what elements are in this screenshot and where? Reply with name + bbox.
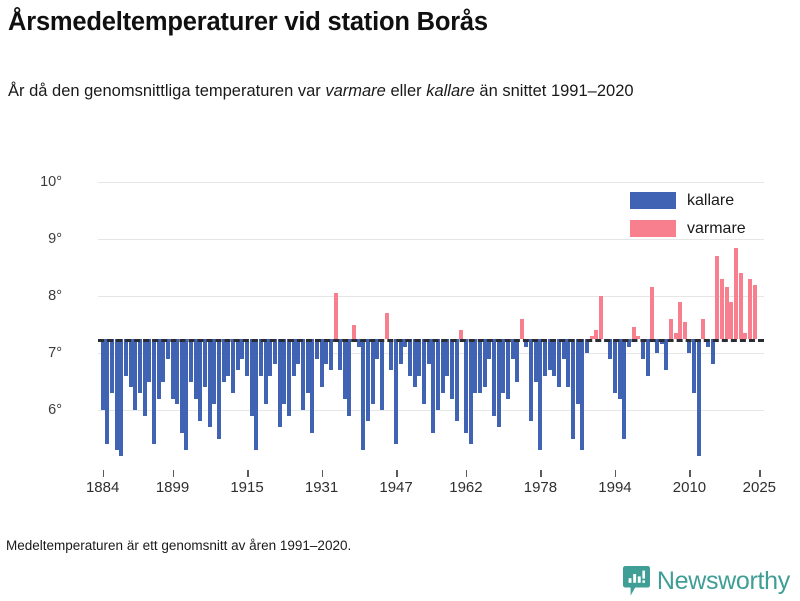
bar-1990[interactable] [594, 330, 598, 339]
bar-2019[interactable] [729, 302, 733, 339]
bar-1926[interactable] [296, 339, 300, 365]
bar-1892[interactable] [138, 339, 142, 393]
chart-page: Årsmedeltemperaturer vid station Borås Å… [0, 0, 800, 600]
brand-name: Newsworthy [657, 567, 790, 596]
bar-1893[interactable] [143, 339, 147, 416]
bar-1919[interactable] [264, 339, 268, 405]
bar-1994[interactable] [613, 339, 617, 393]
gridline-8° [98, 296, 764, 297]
bar-1944[interactable] [380, 339, 384, 410]
bar-1908[interactable] [212, 339, 216, 405]
bar-1884[interactable] [101, 339, 105, 410]
bar-1922[interactable] [278, 339, 282, 427]
bar-2006[interactable] [669, 319, 673, 339]
x-axis-tick-label: 1962 [449, 479, 482, 496]
bar-1903[interactable] [189, 339, 193, 382]
average-baseline [98, 339, 764, 342]
bar-1942[interactable] [371, 339, 375, 405]
bar-1923[interactable] [282, 339, 286, 405]
x-axis-tick-label: 1931 [305, 479, 338, 496]
x-axis-tick [759, 470, 761, 477]
bar-1991[interactable] [599, 296, 603, 339]
bar-1995[interactable] [618, 339, 622, 399]
bar-1953[interactable] [422, 339, 426, 405]
bar-1973[interactable] [515, 339, 519, 382]
bar-1889[interactable] [124, 339, 128, 376]
bar-1917[interactable] [254, 339, 258, 450]
bar-1886[interactable] [110, 339, 114, 393]
bar-1965[interactable] [478, 339, 482, 393]
bar-1896[interactable] [157, 339, 161, 399]
bar-2020[interactable] [734, 248, 738, 339]
bar-chart-bubble-icon [623, 566, 650, 596]
bar-1963[interactable] [469, 339, 473, 444]
x-axis-tick-label: 2010 [673, 479, 706, 496]
bar-1921[interactable] [273, 339, 277, 365]
bar-1981[interactable] [552, 339, 556, 376]
bar-1950[interactable] [408, 339, 412, 376]
bar-1996[interactable] [622, 339, 626, 439]
bar-1987[interactable] [580, 339, 584, 450]
bar-1901[interactable] [180, 339, 184, 433]
chart-plot-area: 6°7°8°9°10°18841899191519311947196219781… [0, 0, 800, 600]
bar-1958[interactable] [445, 339, 449, 376]
bar-2011[interactable] [692, 339, 696, 393]
bar-1933[interactable] [329, 339, 333, 370]
bar-1954[interactable] [427, 339, 431, 365]
bar-1910[interactable] [222, 339, 226, 382]
x-axis-tick [247, 470, 249, 477]
bar-1928[interactable] [306, 339, 310, 393]
x-axis-tick [540, 470, 542, 477]
bar-2024[interactable] [753, 285, 757, 339]
bar-1907[interactable] [208, 339, 212, 427]
y-axis-tick-label: 8° [0, 288, 62, 304]
bar-2009[interactable] [683, 322, 687, 339]
bar-1924[interactable] [287, 339, 291, 416]
bar-1915[interactable] [245, 339, 249, 376]
y-axis-tick-label: 10° [0, 174, 62, 190]
y-axis-tick-label: 7° [0, 345, 62, 361]
bar-1913[interactable] [236, 339, 240, 370]
bar-1952[interactable] [417, 339, 421, 376]
bar-1900[interactable] [175, 339, 179, 405]
bar-1935[interactable] [338, 339, 342, 370]
bar-1974[interactable] [520, 319, 524, 339]
bar-2021[interactable] [739, 273, 743, 339]
x-axis-tick-label: 1884 [86, 479, 119, 496]
bar-1894[interactable] [147, 339, 151, 382]
bar-1936[interactable] [343, 339, 347, 399]
legend-item-varmare[interactable]: varmare [630, 216, 746, 241]
bar-2008[interactable] [678, 302, 682, 339]
bar-1897[interactable] [161, 339, 165, 382]
bar-1909[interactable] [217, 339, 221, 439]
bar-1985[interactable] [571, 339, 575, 439]
bar-2012[interactable] [697, 339, 701, 456]
x-axis-tick [173, 470, 175, 477]
bar-1912[interactable] [231, 339, 235, 393]
bar-1885[interactable] [105, 339, 109, 444]
x-axis-tick [322, 470, 324, 477]
brand-logo[interactable]: Newsworthy [623, 566, 790, 596]
bar-1982[interactable] [557, 339, 561, 387]
bar-1932[interactable] [324, 339, 328, 365]
bar-1916[interactable] [250, 339, 254, 416]
x-axis-tick-label: 1899 [156, 479, 189, 496]
bar-1946[interactable] [389, 339, 393, 370]
bar-1906[interactable] [203, 339, 207, 387]
legend-item-kallare[interactable]: kallare [630, 188, 746, 213]
x-axis-tick [466, 470, 468, 477]
bar-1959[interactable] [450, 339, 454, 399]
bar-1925[interactable] [292, 339, 296, 376]
bar-1888[interactable] [119, 339, 123, 456]
bar-1957[interactable] [441, 339, 445, 393]
bar-1904[interactable] [194, 339, 198, 399]
bar-1951[interactable] [413, 339, 417, 387]
bar-2001[interactable] [646, 339, 650, 376]
bar-1971[interactable] [506, 339, 510, 399]
bar-1937[interactable] [347, 339, 351, 416]
x-axis-tick [103, 470, 105, 477]
bar-1947[interactable] [394, 339, 398, 444]
legend-swatch-kallare [630, 192, 676, 209]
bar-1902[interactable] [184, 339, 188, 450]
legend-label-varmare: varmare [687, 220, 746, 238]
bar-1984[interactable] [566, 339, 570, 387]
x-axis-tick-label: 2025 [743, 479, 776, 496]
bar-1960[interactable] [455, 339, 459, 422]
bar-1956[interactable] [436, 339, 440, 410]
x-axis-tick [615, 470, 617, 477]
bar-1976[interactable] [529, 339, 533, 422]
bar-1931[interactable] [320, 339, 324, 387]
x-axis-tick [396, 470, 398, 477]
x-axis-tick-label: 1978 [524, 479, 557, 496]
chart-legend: kallare varmare [630, 188, 746, 244]
bar-1918[interactable] [259, 339, 263, 376]
bar-1961[interactable] [459, 330, 463, 339]
gridline-10° [98, 182, 764, 183]
bar-1929[interactable] [310, 339, 314, 433]
x-axis-tick-label: 1947 [379, 479, 412, 496]
y-axis-tick-label: 9° [0, 231, 62, 247]
bar-1970[interactable] [501, 339, 505, 393]
chart-footnote: Medeltemperaturen är ett genomsnitt av å… [6, 538, 351, 553]
bar-1964[interactable] [473, 339, 477, 393]
bar-1920[interactable] [268, 339, 272, 376]
bar-1941[interactable] [366, 339, 370, 422]
bar-1945[interactable] [385, 313, 389, 339]
bar-2023[interactable] [748, 279, 752, 339]
bar-1986[interactable] [576, 339, 580, 405]
bar-1948[interactable] [399, 339, 403, 365]
bar-2015[interactable] [711, 339, 715, 365]
x-axis-tick-label: 1915 [230, 479, 263, 496]
bar-1968[interactable] [492, 339, 496, 416]
bar-1966[interactable] [483, 339, 487, 387]
bar-1980[interactable] [548, 339, 552, 370]
bar-1905[interactable] [198, 339, 202, 422]
bar-1977[interactable] [534, 339, 538, 382]
bar-1887[interactable] [115, 339, 119, 450]
bar-1940[interactable] [361, 339, 365, 450]
legend-label-kallare: kallare [687, 192, 734, 210]
bar-2005[interactable] [664, 339, 668, 370]
bar-1962[interactable] [464, 339, 468, 433]
bar-2017[interactable] [720, 279, 724, 339]
bar-1998[interactable] [632, 327, 636, 338]
bar-2013[interactable] [701, 319, 705, 339]
bar-1969[interactable] [497, 339, 501, 427]
bar-1891[interactable] [133, 339, 137, 410]
bar-2018[interactable] [725, 287, 729, 338]
bar-1899[interactable] [171, 339, 175, 399]
legend-swatch-varmare [630, 220, 676, 237]
x-axis-tick [689, 470, 691, 477]
bar-2016[interactable] [715, 256, 719, 339]
bar-1979[interactable] [543, 339, 547, 376]
y-axis-tick-label: 6° [0, 402, 62, 418]
bar-1938[interactable] [352, 325, 356, 339]
bar-1911[interactable] [226, 339, 230, 376]
bar-1955[interactable] [431, 339, 435, 433]
bar-1890[interactable] [129, 339, 133, 387]
bar-1978[interactable] [538, 339, 542, 450]
bar-1934[interactable] [334, 293, 338, 339]
x-axis-tick-label: 1994 [598, 479, 631, 496]
bar-1895[interactable] [152, 339, 156, 444]
bar-1927[interactable] [301, 339, 305, 410]
bar-2002[interactable] [650, 287, 654, 338]
